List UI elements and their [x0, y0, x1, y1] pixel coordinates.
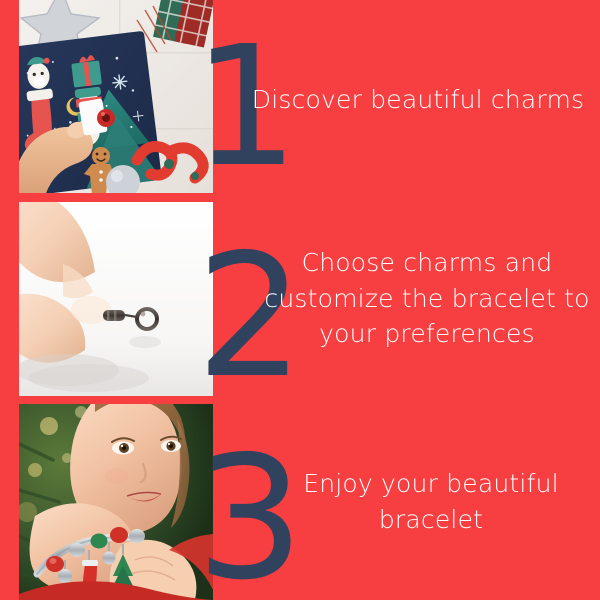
step-2-caption-line-2: customize the bracelet to [262, 281, 592, 317]
step-3-image [19, 404, 213, 600]
infographic-poster: 1 Discover beautiful charms [0, 0, 600, 600]
step-2-image [19, 202, 213, 396]
step-2-caption-line-1: Choose charms and [262, 245, 592, 281]
step-2-caption: Choose charms and customize the bracelet… [262, 245, 592, 352]
step-3-number: 3 [196, 434, 286, 600]
step-3-caption-line-1: Enjoy your beautiful [286, 466, 576, 502]
step-2-caption-line-3: your preferences [262, 316, 592, 352]
step-3-caption-line-2: bracelet [286, 502, 576, 538]
step-1-caption: Discover beautiful charms [248, 82, 588, 118]
step-3-caption: Enjoy your beautiful bracelet [286, 466, 576, 537]
step-1-caption-line-1: Discover beautiful charms [248, 82, 588, 118]
step-1-image [19, 0, 213, 193]
